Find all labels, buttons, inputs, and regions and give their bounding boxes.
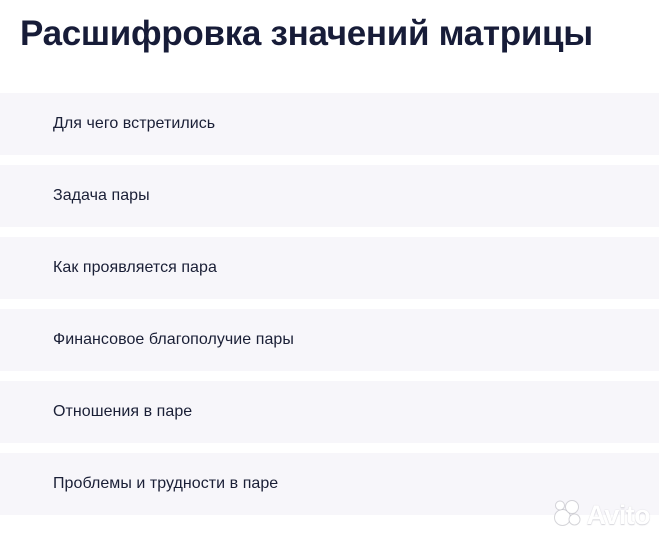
page-root: Расшифровка значений матрицы Для чего вс… [0,0,659,540]
section-row-label: Как проявляется пара [0,258,217,278]
section-row[interactable]: Для чего встретились [0,93,659,155]
page-title: Расшифровка значений матрицы [20,13,593,55]
section-row-label: Отношения в паре [0,402,192,422]
section-row[interactable]: Как проявляется пара [0,237,659,299]
section-row-label: Финансовое благополучие пары [0,330,294,350]
section-row-label: Проблемы и трудности в паре [0,474,278,494]
section-row[interactable]: Финансовое благополучие пары [0,309,659,371]
section-row-label: Для чего встретились [0,114,215,134]
section-row[interactable]: Задача пары [0,165,659,227]
section-row[interactable]: Отношения в паре [0,381,659,443]
section-row[interactable]: Проблемы и трудности в паре [0,453,659,515]
section-list: Для чего встретились Задача пары Как про… [0,93,659,515]
section-row-label: Задача пары [0,186,150,206]
